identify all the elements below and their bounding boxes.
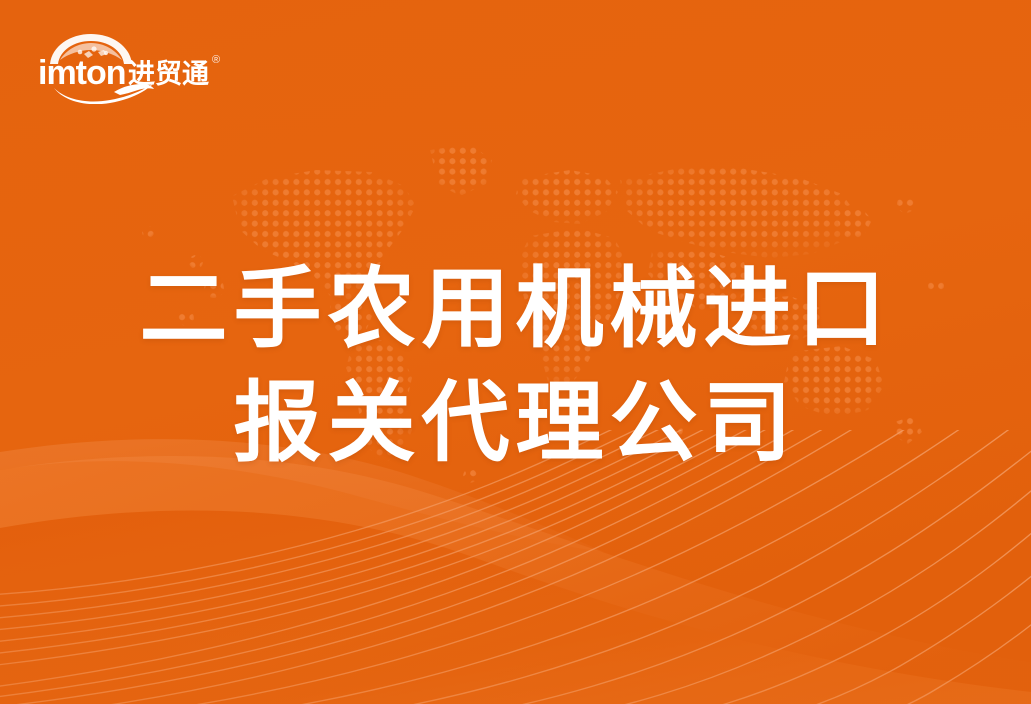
headline-line-1: 二手农用机械进口 (0, 252, 1031, 366)
headline-line-2: 报关代理公司 (0, 366, 1031, 480)
promo-banner: imton 进贸通 ® 二手农用机械进口 报关代理公司 (0, 0, 1031, 704)
brand-logo[interactable]: imton 进贸通 ® (36, 28, 236, 104)
logo-latin-text: imton (38, 54, 126, 92)
trademark-icon: ® (212, 54, 220, 66)
headline: 二手农用机械进口 报关代理公司 (0, 252, 1031, 480)
